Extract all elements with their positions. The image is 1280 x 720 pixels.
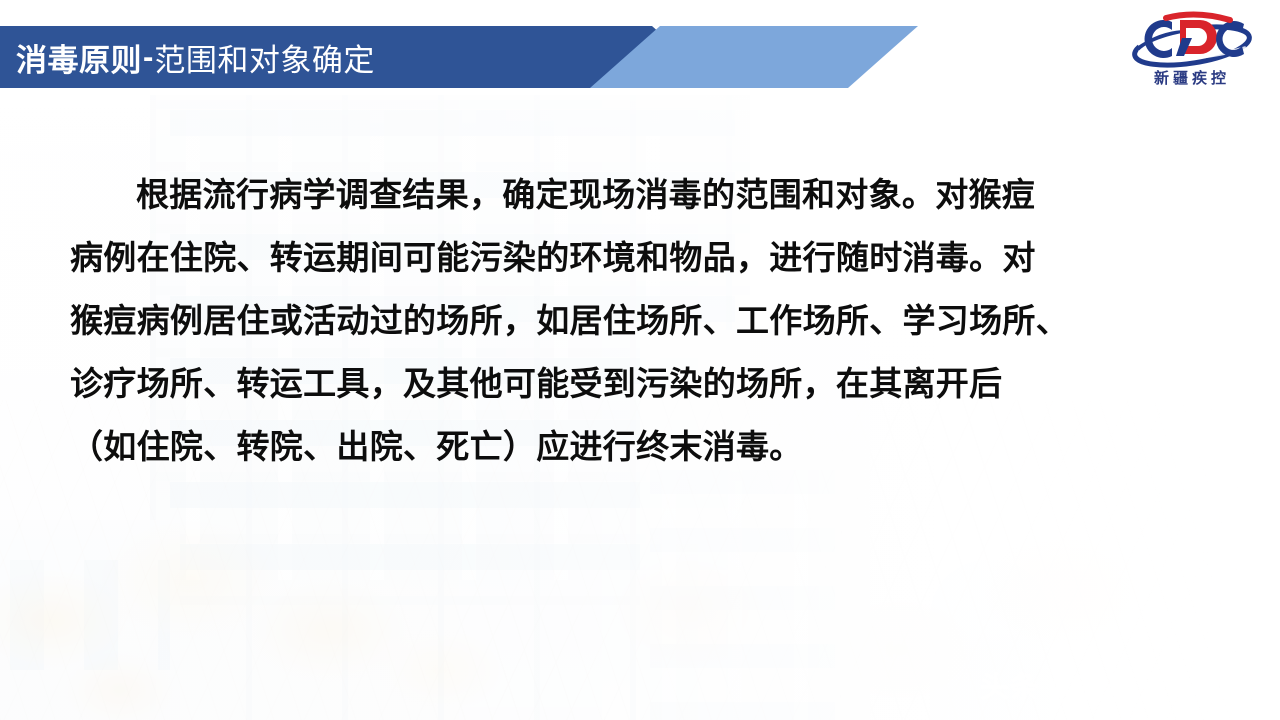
slide-title-subtitle: 范围和对象确定 <box>154 35 375 80</box>
body-line: 诊疗场所、转运工具，及其他可能受到污染的场所，在其离开后 <box>70 352 1220 415</box>
logo-organization-name: 新疆疾控 <box>1126 71 1258 86</box>
slide-canvas: 消毒原则 - 范围和对象确定 新疆疾控 根据流行病学调查结果，确定现场消毒的范围… <box>0 0 1280 720</box>
cdc-logo-icon <box>1126 8 1258 70</box>
slide-title-dash: - <box>142 39 154 75</box>
slide-title: 消毒原则 - 范围和对象确定 <box>16 26 375 88</box>
watermark: 头条 @新疆天同公益 <box>980 664 1258 706</box>
body-line: 猴痘病例居住或活动过的场所，如居住场所、工作场所、学习场所、 <box>70 289 1220 352</box>
slide-body-text: 根据流行病学调查结果，确定现场消毒的范围和对象。对猴痘 病例在住院、转运期间可能… <box>70 163 1220 478</box>
slide-title-main: 消毒原则 <box>16 35 142 80</box>
body-line: 根据流行病学调查结果，确定现场消毒的范围和对象。对猴痘 <box>70 163 1220 226</box>
organization-logo: 新疆疾控 <box>1126 8 1258 94</box>
body-line: 病例在住院、转运期间可能污染的环境和物品，进行随时消毒。对 <box>70 226 1220 289</box>
body-line: （如住院、转院、出院、死亡）应进行终末消毒。 <box>70 415 1220 478</box>
slide-header: 消毒原则 - 范围和对象确定 <box>0 26 1280 88</box>
